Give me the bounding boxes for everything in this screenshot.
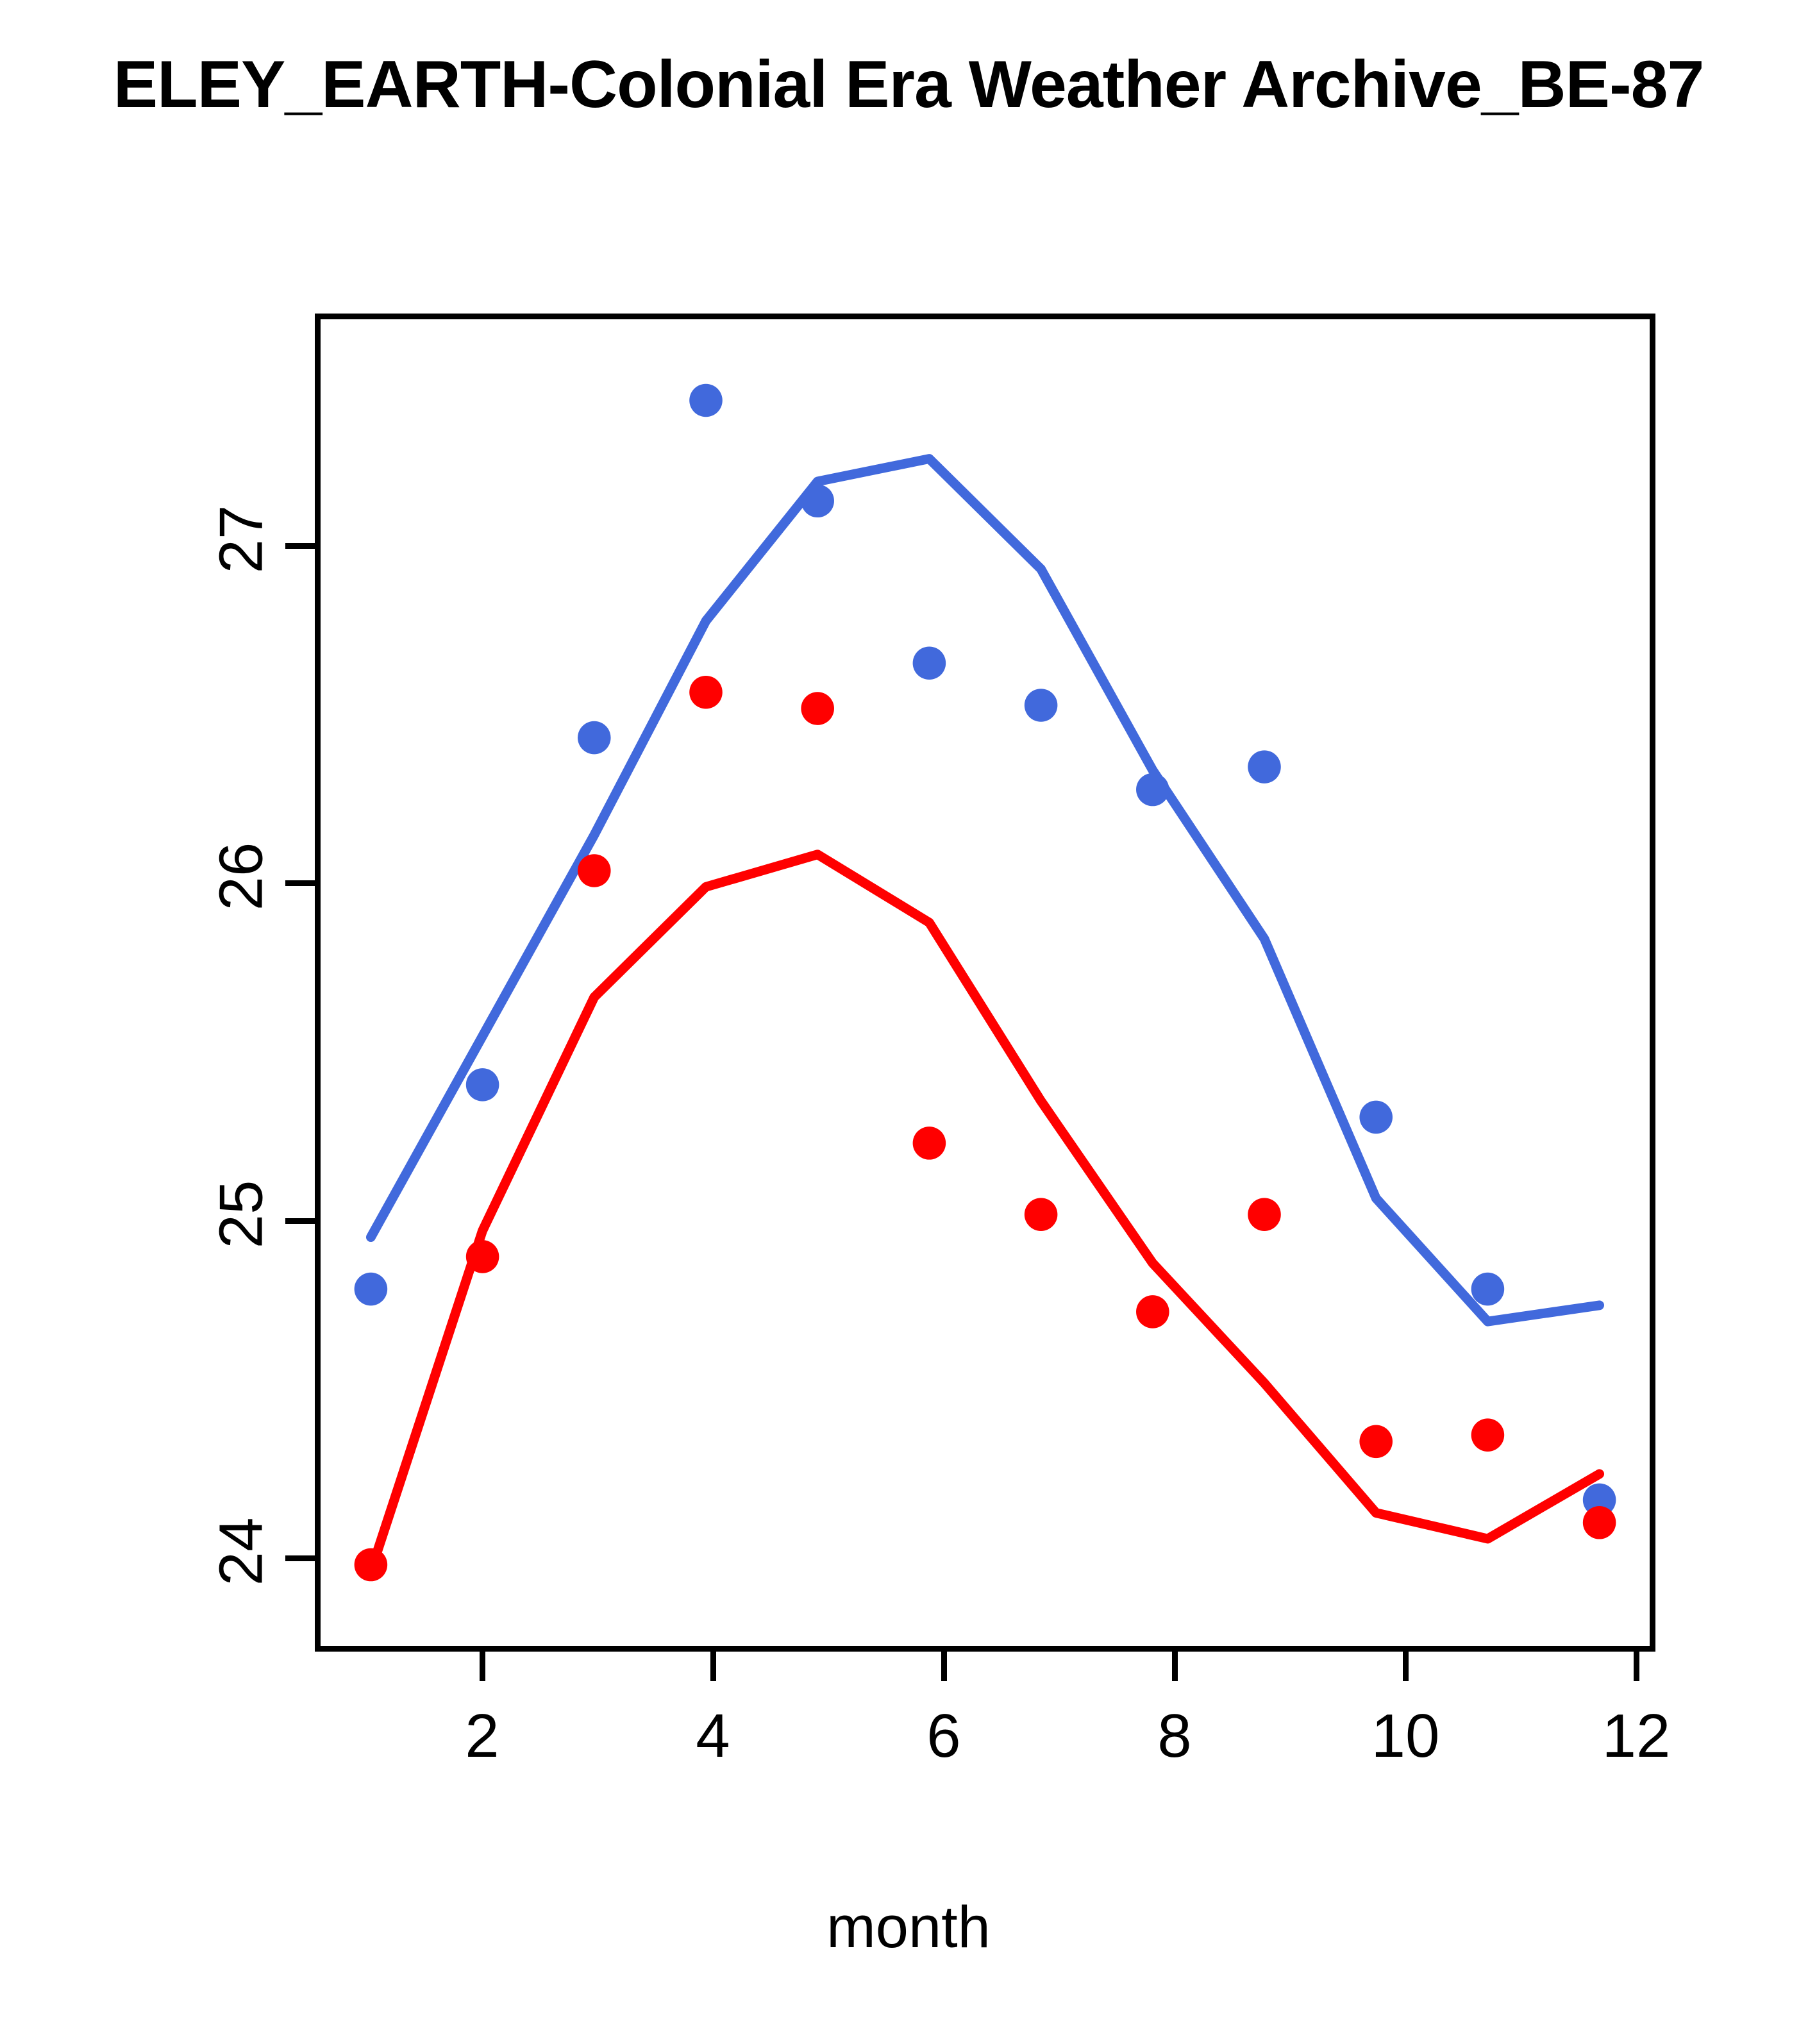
x-tick-label-4: 4 [636,1705,790,1767]
y-tick-label-25: 25 [0,1184,276,1245]
data-point [1359,1425,1393,1459]
y-tick-mark-25 [285,1218,315,1224]
data-point [913,1127,946,1160]
y-tick-mark-24 [285,1555,315,1561]
series-points [355,384,1616,1582]
data-point [1025,689,1058,722]
plot-area [315,314,1655,1652]
data-point [578,854,611,887]
y-tick-mark-27 [285,543,315,549]
x-tick-label-8: 8 [1098,1705,1252,1767]
data-point [466,1240,499,1273]
data-point [355,1273,388,1306]
data-point [355,1548,388,1582]
x-tick-mark-6 [941,1652,947,1681]
data-point [801,485,834,518]
line-red-line [371,855,1599,1571]
y-tick-label-27-text: 27 [211,505,272,574]
x-tick-label-2: 2 [405,1705,559,1767]
x-tick-mark-8 [1172,1652,1178,1681]
data-point [1136,1295,1169,1328]
data-point [1248,750,1281,783]
y-tick-label-27: 27 [0,508,276,570]
data-point [466,1068,499,1102]
x-tick-mark-12 [1634,1652,1639,1681]
y-tick-label-26: 26 [0,846,276,907]
x-tick-mark-10 [1403,1652,1409,1681]
y-tick-label-26-text: 26 [211,842,272,911]
series-lines [371,459,1599,1571]
data-point [578,721,611,755]
data-point [913,646,946,680]
x-tick-mark-4 [710,1652,716,1681]
y-tick-label-24: 24 [0,1521,276,1582]
x-tick-label-6: 6 [867,1705,1021,1767]
chart-title: ELEY_EARTH-Colonial Era Weather Archive_… [113,51,1704,118]
x-tick-label-12: 12 [1559,1705,1713,1767]
data-point [1583,1506,1616,1539]
x-axis-title: month [0,1898,1817,1957]
line-blue-line [371,459,1599,1322]
data-point [689,384,723,417]
data-point [1471,1418,1505,1452]
x-tick-label-10: 10 [1328,1705,1482,1767]
data-point [689,676,723,709]
plot-svg [321,319,1650,1646]
chart-figure: ELEY_EARTH-Colonial Era Weather Archive_… [0,0,1817,2044]
y-tick-mark-26 [285,880,315,886]
data-point [1025,1198,1058,1231]
data-point [1471,1273,1505,1306]
x-tick-mark-2 [480,1652,485,1681]
data-point [1136,773,1169,807]
data-point [1359,1101,1393,1134]
y-tick-label-25-text: 25 [211,1180,272,1249]
y-tick-label-24-text: 24 [211,1518,272,1586]
data-point [801,692,834,725]
data-point [1248,1198,1281,1231]
